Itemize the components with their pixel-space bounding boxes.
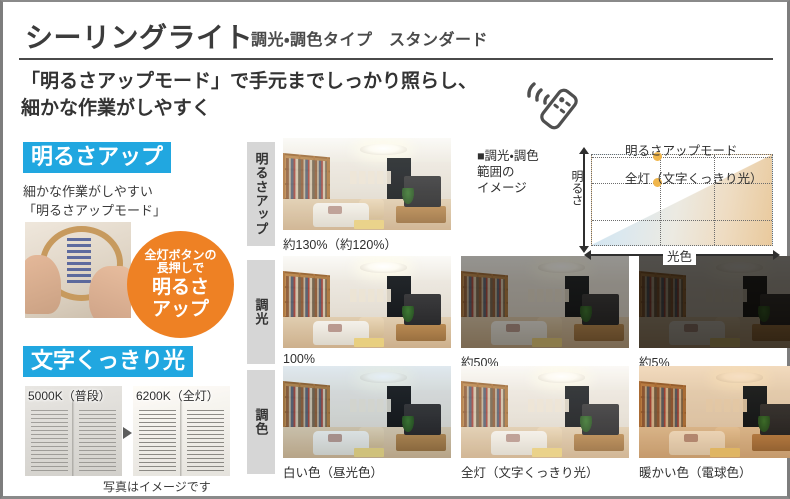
tag-brightness-up: 明るさアップ [23,142,171,173]
page-header: シーリングライト 調光・調色タイプ スタンダード [3,2,787,64]
lead-line-2: 細かな作業がしやすく [21,95,541,122]
badge-line-3: 明るさ [152,277,209,298]
remote-control-icon [519,76,585,130]
chart-y-axis-arrow [583,154,585,246]
tag-crisp-text-light: 文字くっきり光 [23,346,193,377]
chart-legend: ■調光・調色 範囲の イメージ [477,148,573,196]
right-triangle-icon [123,427,132,439]
embroidery-photo [25,222,131,318]
page-subtitle: 調光・調色タイプ スタンダード [251,26,488,50]
chart-legend-line-1: ■調光・調色 [477,148,573,164]
book-photo-5000k: 5000K（普段） [25,386,122,476]
caption-brightness-boost: 約130%（約120%） [283,234,397,253]
chart-legend-line-2: 範囲の [477,164,573,180]
row-label-color-tuning: 調色 [247,370,275,474]
caption-tone-full: 全灯（文字くっきり光） [461,462,599,481]
chart-legend-line-3: イメージ [477,180,573,196]
badge-line-2: 長押しで [157,262,205,275]
caption-dim-100: 100% [283,352,315,366]
chart-gridline-h [592,220,772,221]
row-label-dimming: 調光 [247,260,275,364]
catalog-page: シーリングライト 調光・調色タイプ スタンダード 「明るさアップモード」で手元ま… [0,0,790,499]
chart-x-axis-label: 光色 [663,246,696,265]
book-photo-6200k: 6200K（全灯） [133,386,230,476]
chart-annotation-full-light: 全灯（文字くっきり光） [625,168,763,187]
row-label-brightness-up: 明るさアップ [247,142,275,246]
lead-line-1: 「明るさアップモード」で手元までしっかり照らし、 [21,71,477,92]
dimming-range-chart: ■調光・調色 範囲の イメージ 明るさ 明るさアップモード 全灯（文字くっきり光… [477,142,783,262]
book-label-6200k: 6200K（全灯） [136,387,219,404]
book-comparison: 5000K（普段） 6200K（全灯） [25,386,230,476]
brightness-desc-line-1: 細かな作業がしやすい [23,182,166,201]
full-light-button-badge: 全灯ボタンの 長押しで 明るさ アップ [127,231,234,338]
photo-dim-50 [461,256,629,348]
photo-dim-5 [639,256,790,348]
chart-annotation-boost-mode: 明るさアップモード [625,140,738,159]
brightness-desc-line-2: 「明るさアップモード」 [23,201,166,220]
photo-tone-warm [639,366,790,458]
badge-line-4: アップ [152,299,209,320]
book-label-5000k: 5000K（普段） [28,387,111,404]
page-title: シーリングライト [25,16,253,56]
photo-disclaimer: 写真はイメージです [103,478,211,495]
photo-tone-full [461,366,629,458]
header-divider [19,58,773,60]
photo-brightness-boost [283,138,451,230]
photo-dim-100 [283,256,451,348]
brightness-description: 細かな作業がしやすい 「明るさアップモード」 [23,182,166,220]
photo-tone-daylight [283,366,451,458]
caption-tone-warm: 暖かい色（電球色） [639,462,752,481]
lead-copy: 「明るさアップモード」で手元までしっかり照らし、 細かな作業がしやすく [21,68,541,122]
caption-tone-daylight: 白い色（昼光色） [283,462,383,481]
